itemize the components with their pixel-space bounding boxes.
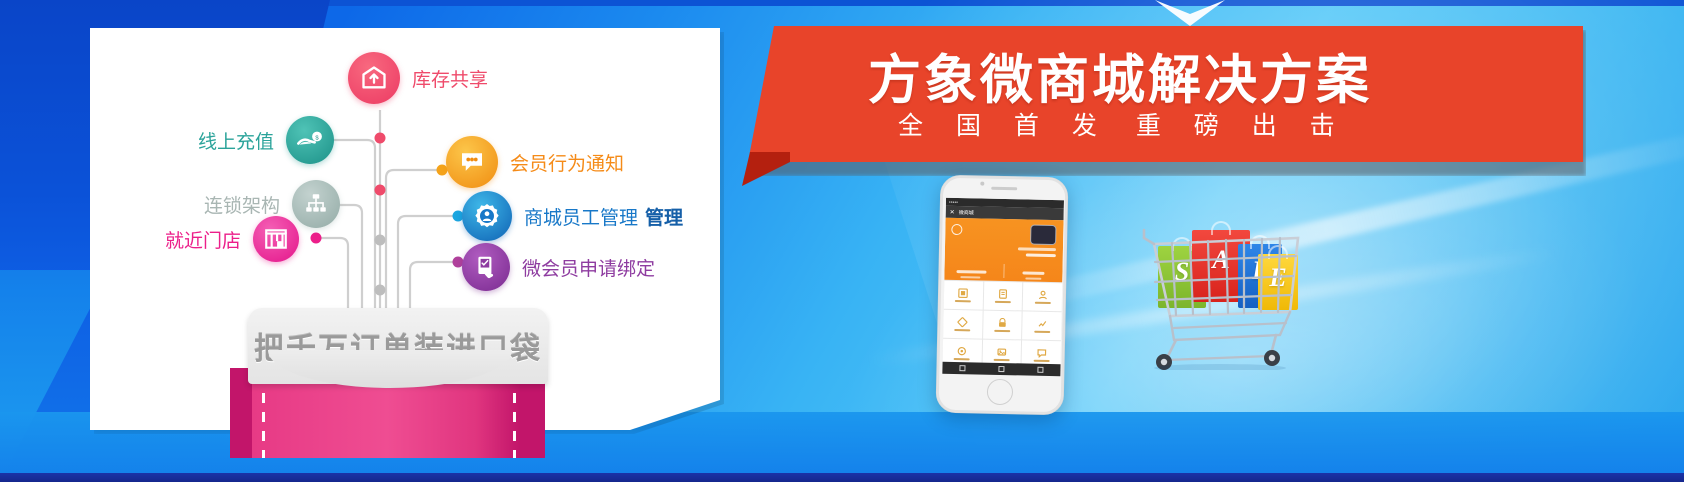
infographic: 库存共享 $ 线上充值 连锁架构 就近门店	[90, 28, 720, 430]
node-label: 会员行为通知	[510, 149, 624, 176]
phone-back-icon	[959, 365, 965, 371]
phone-grid-item[interactable]	[983, 282, 1022, 311]
phone-menu-grid	[942, 280, 1062, 369]
banner-subtitle-right: 重 磅 出 击	[1136, 112, 1348, 140]
phone-hero-section	[944, 218, 1063, 282]
node-member-behavior-notice[interactable]: 会员行为通知	[446, 136, 624, 188]
bottom-navy-strip	[0, 473, 1684, 482]
phone-status-text: ●●●●●	[949, 200, 958, 204]
node-online-recharge[interactable]: $ 线上充值	[198, 116, 334, 164]
node-label: 连锁架构	[204, 191, 280, 218]
banner-hero: 库存共享 $ 线上充值 连锁架构 就近门店	[0, 0, 1684, 482]
node-label: 库存共享	[412, 65, 488, 92]
phone-close-icon[interactable]: ✕	[950, 208, 955, 215]
node-staff-management[interactable]: 商城员工管理管理	[462, 191, 683, 241]
chevron-down-icon	[1155, 0, 1225, 30]
phone-home-icon	[998, 366, 1004, 372]
phone-grid-item[interactable]	[1023, 282, 1062, 311]
banner-subtitle: 全 国 首 发重 磅 出 击	[898, 106, 1348, 142]
org-chart-icon	[292, 180, 340, 228]
shopping-cart: S A L E	[1140, 220, 1330, 370]
phone-camera-icon	[980, 182, 984, 186]
chat-bubble-icon	[446, 136, 498, 188]
phone-grid-item[interactable]	[1022, 311, 1061, 340]
phone-hero-line-1	[1018, 247, 1056, 251]
phone-home-button[interactable]	[987, 379, 1014, 406]
phone-speaker	[991, 187, 1017, 191]
phone-banner-thumb	[1030, 225, 1056, 246]
node-label: 就近门店	[165, 226, 241, 253]
phone-stat-2	[1022, 271, 1044, 274]
phone-android-navbar	[942, 362, 1060, 376]
tablet-tap-icon	[462, 243, 510, 291]
phone-grid-item[interactable]	[944, 281, 983, 310]
phone-stat-divider	[1003, 264, 1004, 278]
phone-grid-item[interactable]	[943, 310, 982, 339]
pocket-stitch-left	[262, 374, 265, 458]
phone-stat-2-sub	[1025, 277, 1041, 280]
phone-stat-1	[956, 270, 986, 274]
node-label: 商城员工管理管理	[524, 203, 683, 230]
phone-recents-icon	[1038, 367, 1044, 373]
hand-coin-icon: $	[286, 116, 334, 164]
storefront-icon	[253, 216, 299, 262]
gear-user-icon	[462, 191, 512, 241]
phone-mockup: ●●●●● ✕ 微商城	[936, 175, 1069, 416]
node-inventory-share[interactable]: 库存共享	[348, 52, 488, 104]
phone-screen: ●●●●● ✕ 微商城	[942, 198, 1064, 376]
node-label-secondary: 管理	[645, 208, 683, 229]
pocket-stitch-right	[513, 374, 516, 458]
cart-frame-icon	[1140, 220, 1330, 370]
upload-box-icon	[348, 52, 400, 104]
phone-avatar	[951, 224, 962, 235]
node-nearby-store[interactable]: 就近门店	[165, 216, 299, 262]
phone-hero-line-2	[1026, 253, 1056, 257]
node-label-main: 商城员工管理	[524, 208, 638, 229]
promo-banner: 方象微商城解决方案 全 国 首 发重 磅 出 击	[748, 26, 1583, 162]
node-label: 微会员申请绑定	[522, 254, 655, 281]
phone-grid-item[interactable]	[983, 311, 1022, 340]
banner-subtitle-left: 全 国 首 发	[898, 112, 1110, 140]
node-member-binding[interactable]: 微会员申请绑定	[462, 243, 655, 291]
phone-nav-title: 微商城	[959, 209, 974, 216]
node-label: 线上充值	[198, 127, 274, 154]
phone-stat-1-sub	[960, 276, 980, 279]
banner-title: 方象微商城解决方案	[868, 38, 1372, 114]
